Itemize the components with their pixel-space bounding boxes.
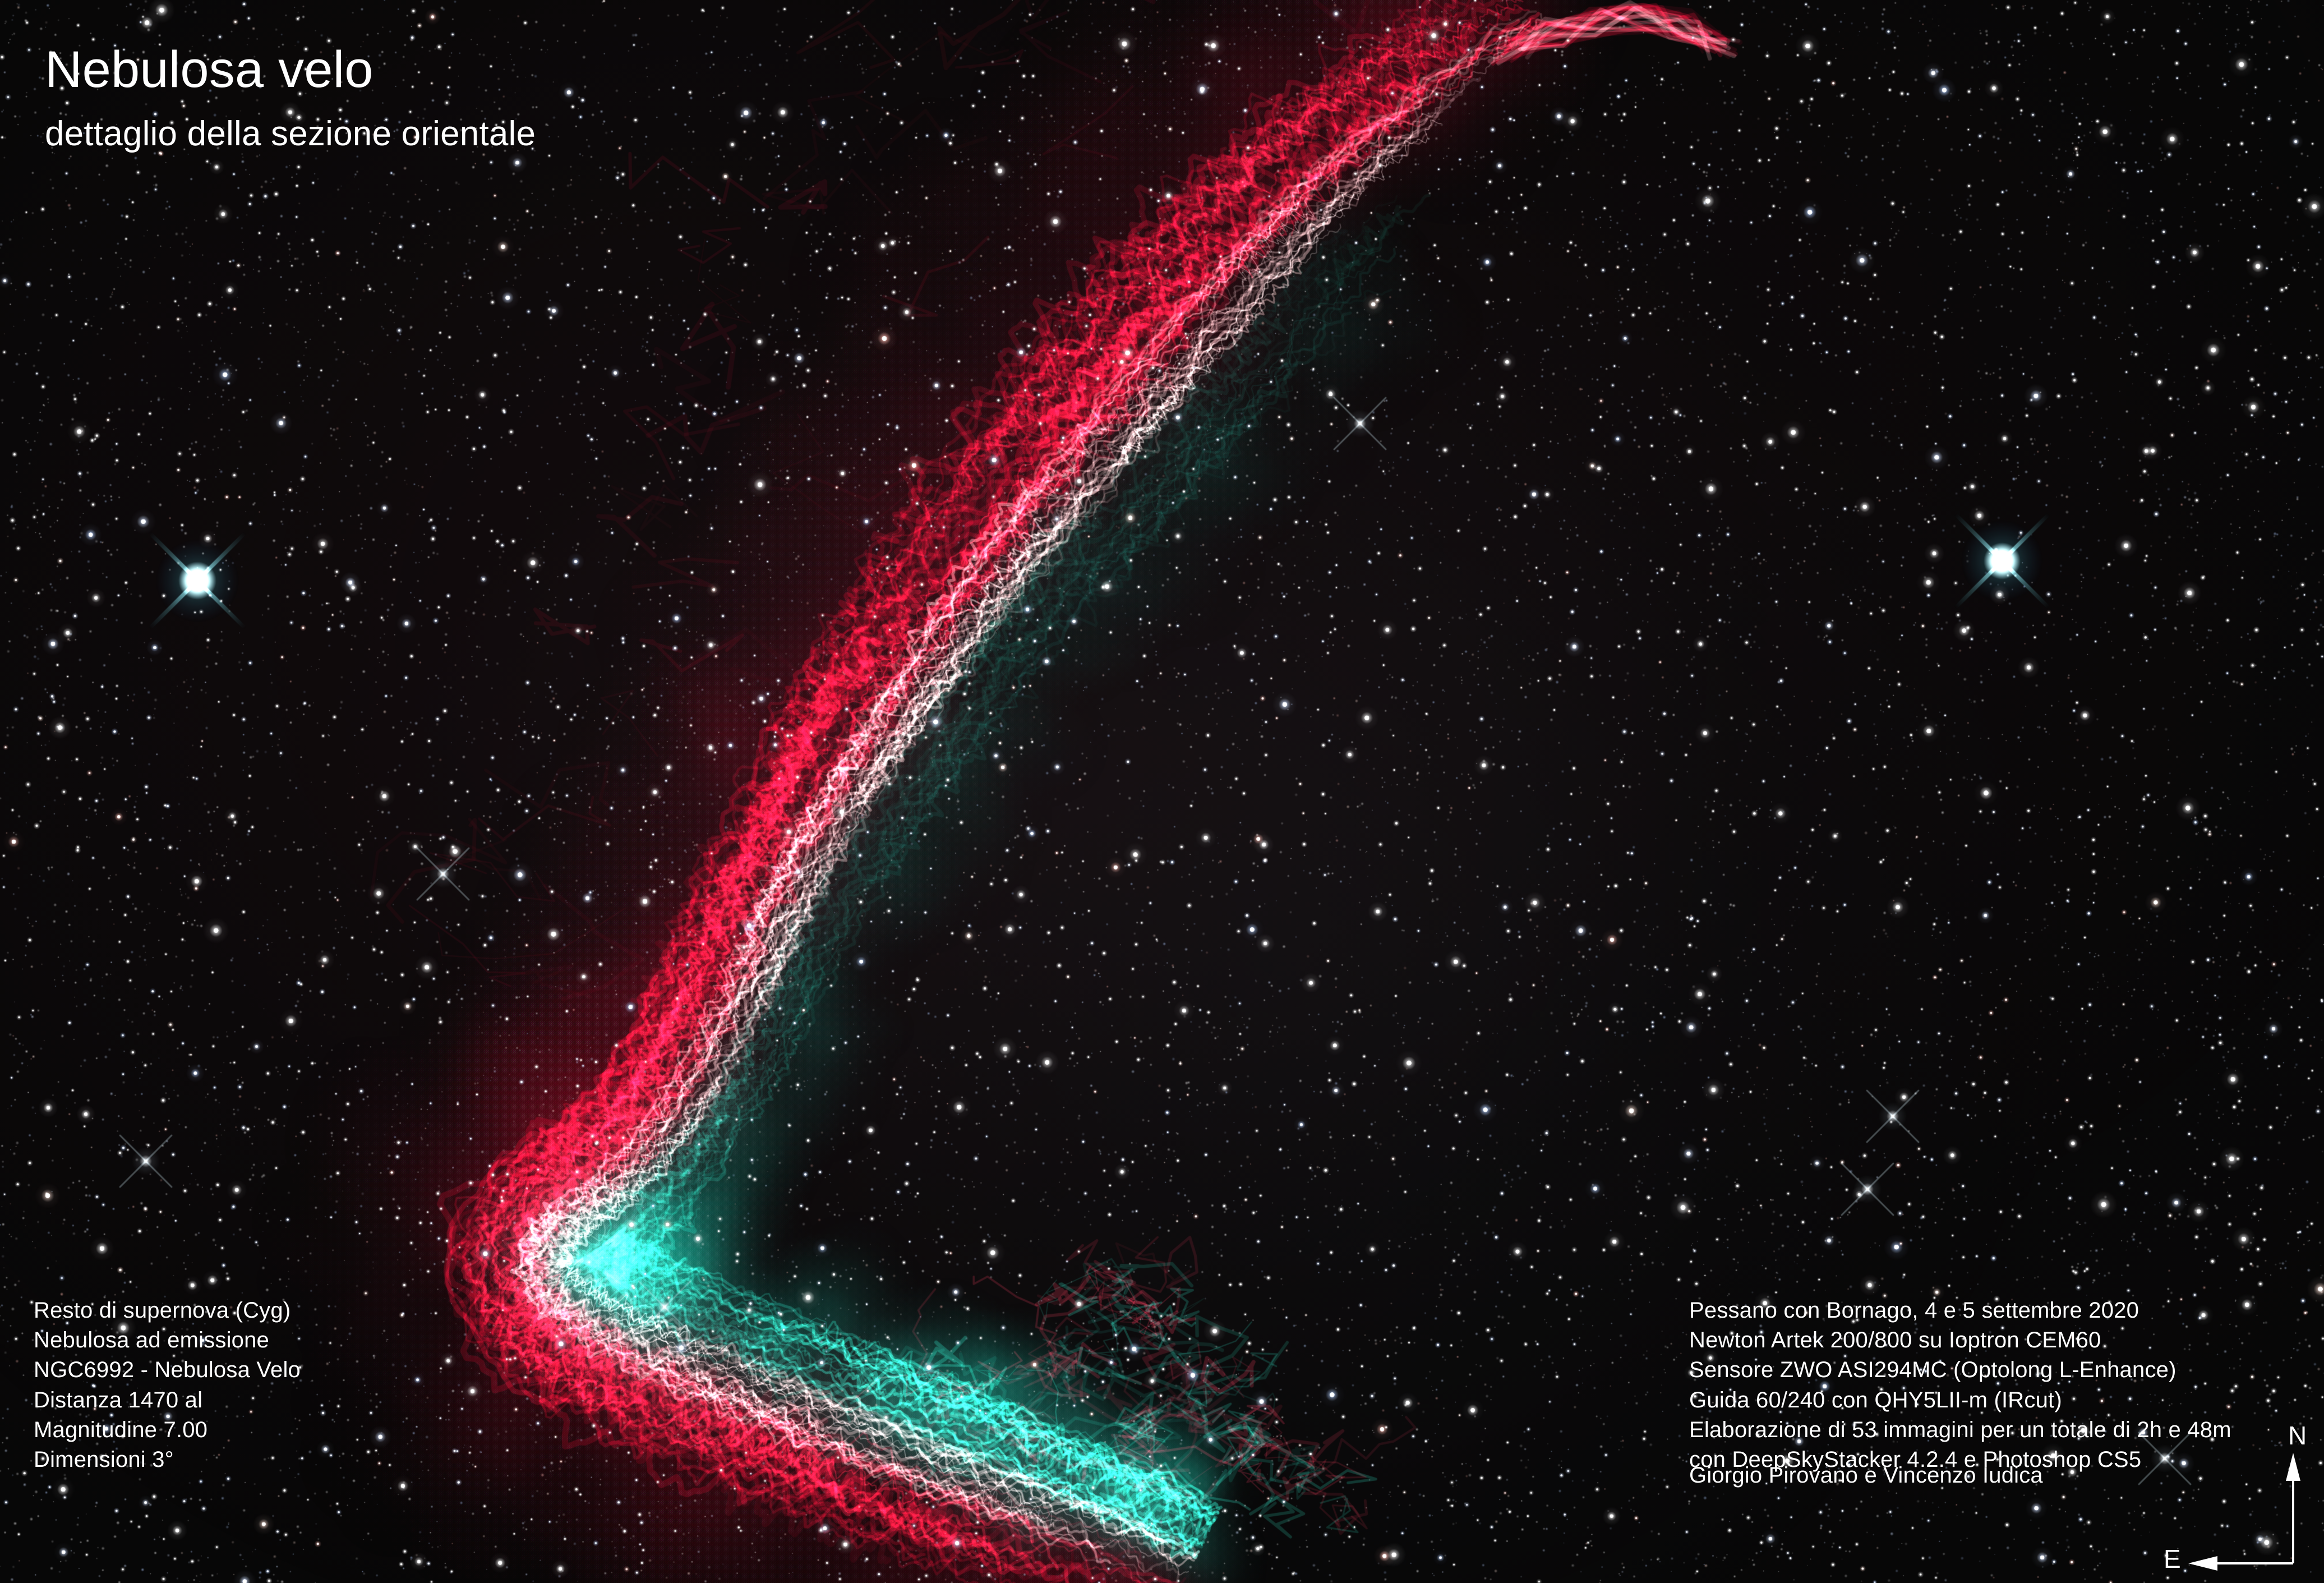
orientation-compass: N E — [2164, 1419, 2324, 1583]
info-left-line: NGC6992 - Nebulosa Velo — [34, 1355, 301, 1385]
compass-north-label: N — [2288, 1420, 2307, 1451]
author-credit: Giorgio Pirovano e Vincenzo Iudica — [1689, 1464, 2043, 1487]
astrophoto-poster: Nebulosa velo dettaglio della sezione or… — [0, 0, 2324, 1583]
info-right-line: Pessano con Bornago, 4 e 5 settembre 202… — [1689, 1296, 2231, 1326]
object-info-block: Resto di supernova (Cyg) Nebulosa ad emi… — [34, 1296, 301, 1475]
info-left-line: Nebulosa ad emissione — [34, 1326, 301, 1355]
acquisition-info-block: Pessano con Bornago, 4 e 5 settembre 202… — [1689, 1296, 2231, 1475]
info-right-line: Elaborazione di 53 immagini per un total… — [1689, 1415, 2231, 1445]
info-right-line: Sensore ZWO ASI294MC (Optolong L-Enhance… — [1689, 1355, 2231, 1385]
page-title: Nebulosa velo — [45, 44, 374, 95]
compass-east-label: E — [2164, 1544, 2181, 1574]
info-right-line: Guida 60/240 con QHY5LII-m (IRcut) — [1689, 1386, 2231, 1415]
info-left-line: Magnitudine 7.00 — [34, 1415, 301, 1445]
info-left-line: Dimensioni 3° — [34, 1445, 301, 1475]
info-right-line: Newton Artek 200/800 su Ioptron CEM60 — [1689, 1326, 2231, 1355]
info-left-line: Resto di supernova (Cyg) — [34, 1296, 301, 1326]
info-left-line: Distanza 1470 al — [34, 1386, 301, 1415]
page-subtitle: dettaglio della sezione orientale — [45, 117, 536, 151]
